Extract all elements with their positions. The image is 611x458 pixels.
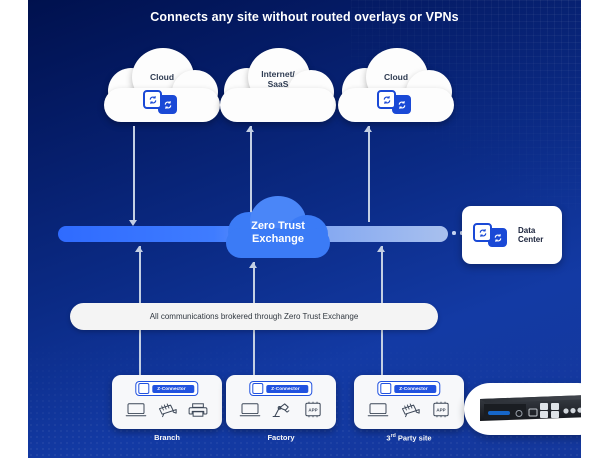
z-connector-badge: Z-Connector [249,381,312,396]
zte-label: Zero Trust Exchange [224,220,332,245]
sync-pair-icon [473,223,511,247]
cloud-label-2-line1: Internet/ [218,69,338,79]
cloud-label-2-line2: SaaS [218,79,338,89]
arrow-up-cloud2 [246,126,254,132]
z-connector-badge: Z-Connector [135,381,198,396]
zte-label-line1: Zero Trust [224,220,332,233]
diagram-canvas: Connects any site without routed overlay… [0,0,611,458]
z-connector-badge: Z-Connector [377,381,440,396]
data-center-label: Data Center [518,226,562,244]
laptop-icon [125,402,147,423]
device-row [112,402,222,423]
cloud-node-3[interactable]: Cloud [336,56,456,128]
page-title: Connects any site without routed overlay… [28,10,581,24]
app-chip-icon: APP [431,401,451,423]
site-label-rest: Party site [396,434,432,443]
cloud-node-2[interactable]: Internet/ SaaS [218,56,338,128]
laptop-icon [367,402,389,423]
network-appliance-icon [474,390,581,429]
cloud-label-1: Cloud [102,72,222,82]
cloud-node-1[interactable]: Cloud [102,56,222,128]
device-row: APP [226,401,336,423]
robot-arm-icon [271,402,293,423]
broker-text: All communications brokered through Zero… [150,312,359,321]
z-connector-chip-icon [138,383,149,394]
arrow-up-cloud3 [364,126,372,132]
connector-cloud3 [368,126,370,222]
device-row: APP [354,401,464,423]
sync-pair-icon [377,90,415,114]
blue-background: Connects any site without routed overlay… [28,0,581,458]
camera-icon [156,402,178,423]
arrow-up-site1 [135,246,143,252]
data-center-node[interactable]: Data Center [462,206,562,264]
z-connector-chip-icon [252,383,263,394]
laptop-icon [239,402,261,423]
arrow-down-cloud1 [129,220,137,226]
z-connector-label: Z-Connector [266,385,308,393]
printer-icon [187,402,209,423]
site-box-branch[interactable]: Z-Connector [112,375,222,429]
svg-text:APP: APP [308,408,317,413]
network-appliance-card[interactable] [464,383,581,435]
z-connector-label: Z-Connector [152,385,194,393]
z-connector-chip-icon [380,383,391,394]
cloud-label-3: Cloud [336,72,456,82]
site-label-third-party: 3rd Party site [354,433,464,443]
broker-banner: All communications brokered through Zero… [70,303,438,330]
z-connector-label: Z-Connector [394,385,436,393]
site-box-factory[interactable]: Z-Connector APP [226,375,336,429]
camera-icon [399,402,421,423]
zero-trust-exchange-node[interactable]: Zero Trust Exchange [224,204,332,266]
zte-label-line2: Exchange [224,233,332,246]
connector-cloud1 [133,126,135,222]
arrow-up-site3 [377,246,385,252]
app-chip-icon: APP [303,401,323,423]
cloud-label-2: Internet/ SaaS [218,69,338,89]
sync-pair-icon [143,90,181,114]
site-label-branch: Branch [112,433,222,442]
site-label-factory: Factory [226,433,336,442]
svg-text:APP: APP [436,408,445,413]
cloud-base [220,88,336,122]
site-box-third-party[interactable]: Z-Connector APP [354,375,464,429]
